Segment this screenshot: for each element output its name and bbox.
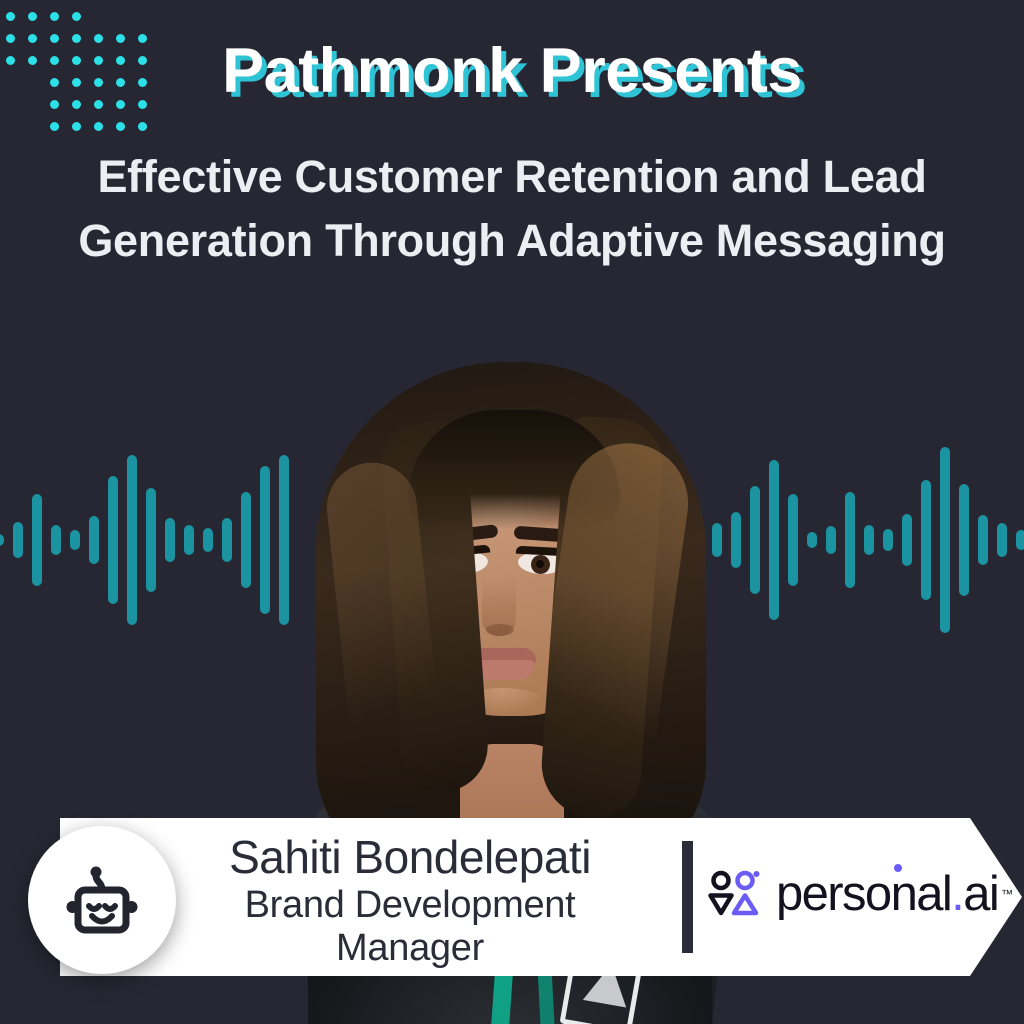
waveform-bar: [108, 476, 118, 604]
waveform-bar: [127, 455, 137, 625]
waveform-bar: [921, 480, 931, 600]
waveform-bar: [750, 486, 760, 594]
waveform-bar: [89, 516, 99, 564]
logo-word-ai: ai: [963, 870, 998, 919]
waveform-bar: [0, 534, 4, 546]
avatar: [28, 826, 176, 974]
logo-accent-dot: [894, 864, 902, 872]
grid-dot: [94, 122, 103, 131]
page-title: Pathmonk Presents: [222, 38, 802, 104]
presentation-slide: Pathmonk Presents Effective Customer Ret…: [0, 0, 1024, 1024]
waveform-bar: [940, 447, 950, 633]
waveform-bar: [997, 523, 1007, 557]
grid-dot: [50, 122, 59, 131]
waveform-bar: [883, 529, 893, 551]
grid-dot: [6, 12, 15, 21]
waveform-bar: [788, 494, 798, 586]
waveform-bar: [165, 518, 175, 562]
grid-dot: [116, 122, 125, 131]
header-title-block: Pathmonk Presents: [0, 38, 1024, 104]
waveform-bar: [203, 528, 213, 552]
trademark-symbol: ™: [1001, 888, 1011, 900]
waveform-bar: [845, 492, 855, 588]
waveform-bar: [769, 460, 779, 620]
personal-ai-logo-mark-icon: [706, 868, 762, 920]
robot-avatar-icon: [56, 854, 148, 946]
waveform-bar: [32, 494, 42, 586]
banner-divider: [682, 841, 693, 953]
waveform-bar: [51, 525, 61, 555]
waveform-bar: [1016, 530, 1024, 550]
grid-dot: [138, 122, 147, 131]
header-subtitle-block: Effective Customer Retention and Lead Ge…: [50, 145, 974, 273]
waveform-bar: [13, 522, 23, 558]
waveform-bar: [864, 525, 874, 555]
waveform-bar: [826, 526, 836, 554]
waveform-bar: [222, 518, 232, 562]
grid-dot: [72, 12, 81, 21]
logo-word-personal: personal: [776, 870, 951, 919]
waveform-bar: [731, 512, 741, 568]
waveform-bar: [260, 466, 270, 614]
grid-dot: [50, 12, 59, 21]
logo-dot: .: [951, 870, 963, 919]
grid-dot: [28, 12, 37, 21]
waveform-bar: [959, 484, 969, 596]
speaker-name: Sahiti Bondelepati: [186, 830, 634, 884]
waveform-bar: [184, 525, 194, 555]
waveform-bar: [70, 530, 80, 550]
waveform-bar: [902, 514, 912, 566]
speaker-info: Sahiti Bondelepati Brand Development Man…: [186, 830, 634, 969]
subtitle-line-1: Effective Customer Retention and Lead: [50, 145, 974, 209]
waveform-bar: [978, 515, 988, 565]
speaker-role-line-2: Manager: [186, 927, 634, 970]
waveform-bar: [146, 488, 156, 592]
audio-waveform-left: [0, 440, 324, 640]
waveform-bar: [241, 492, 251, 588]
waveform-bar: [279, 455, 289, 625]
speaker-role-line-1: Brand Development: [186, 884, 634, 927]
grid-dot: [72, 122, 81, 131]
waveform-bar: [807, 532, 817, 548]
personal-ai-logo: personal . ai ™: [706, 868, 1012, 920]
personal-ai-wordmark: personal . ai ™: [776, 870, 1012, 919]
subtitle-line-2: Generation Through Adaptive Messaging: [50, 209, 974, 273]
